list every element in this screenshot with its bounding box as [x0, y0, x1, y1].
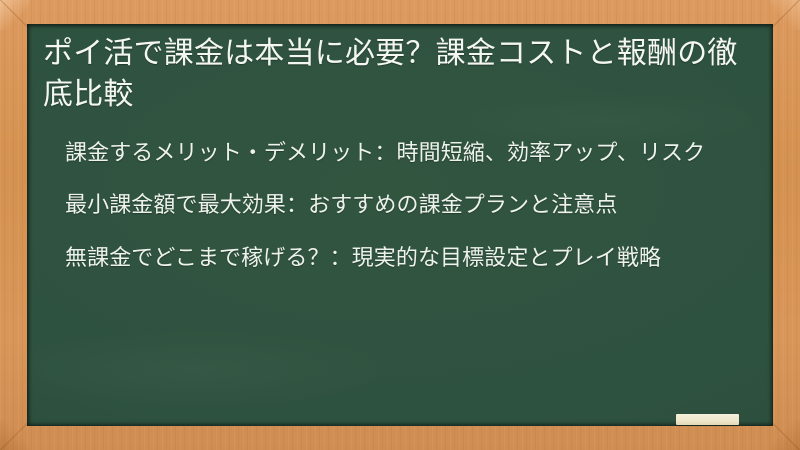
frame-seam-bottom-left [0, 420, 30, 450]
frame-seam-bottom-right [770, 420, 800, 450]
chalk-stick [676, 414, 739, 425]
frame-corner-top-left [0, 0, 30, 30]
list-item: 無課金でどこまで稼げる？：現実的な目標設定とプレイ戦略 [65, 243, 757, 274]
frame-seam-top-right [770, 0, 800, 30]
chalkboard-surface: ポイ活で課金は本当に必要？課金コストと報酬の徹底比較 課金するメリット・デメリッ… [27, 24, 773, 426]
frame-corner-top-right [770, 0, 800, 30]
frame-seam-top-left [0, 0, 30, 30]
board-content: ポイ活で課金は本当に必要？課金コストと報酬の徹底比較 課金するメリット・デメリッ… [27, 24, 773, 274]
board-title: ポイ活で課金は本当に必要？課金コストと報酬の徹底比較 [39, 34, 761, 116]
frame-corner-bottom-left [0, 420, 30, 450]
chalkboard-wooden-frame: ポイ活で課金は本当に必要？課金コストと報酬の徹底比較 課金するメリット・デメリッ… [0, 0, 800, 450]
frame-corner-bottom-right [770, 420, 800, 450]
list-item: 最小課金額で最大効果：おすすめの課金プランと注意点 [65, 190, 757, 221]
list-item: 課金するメリット・デメリット：時間短縮、効率アップ、リスク [65, 138, 757, 169]
table-of-contents-list: 課金するメリット・デメリット：時間短縮、効率アップ、リスク 最小課金額で最大効果… [39, 138, 761, 274]
